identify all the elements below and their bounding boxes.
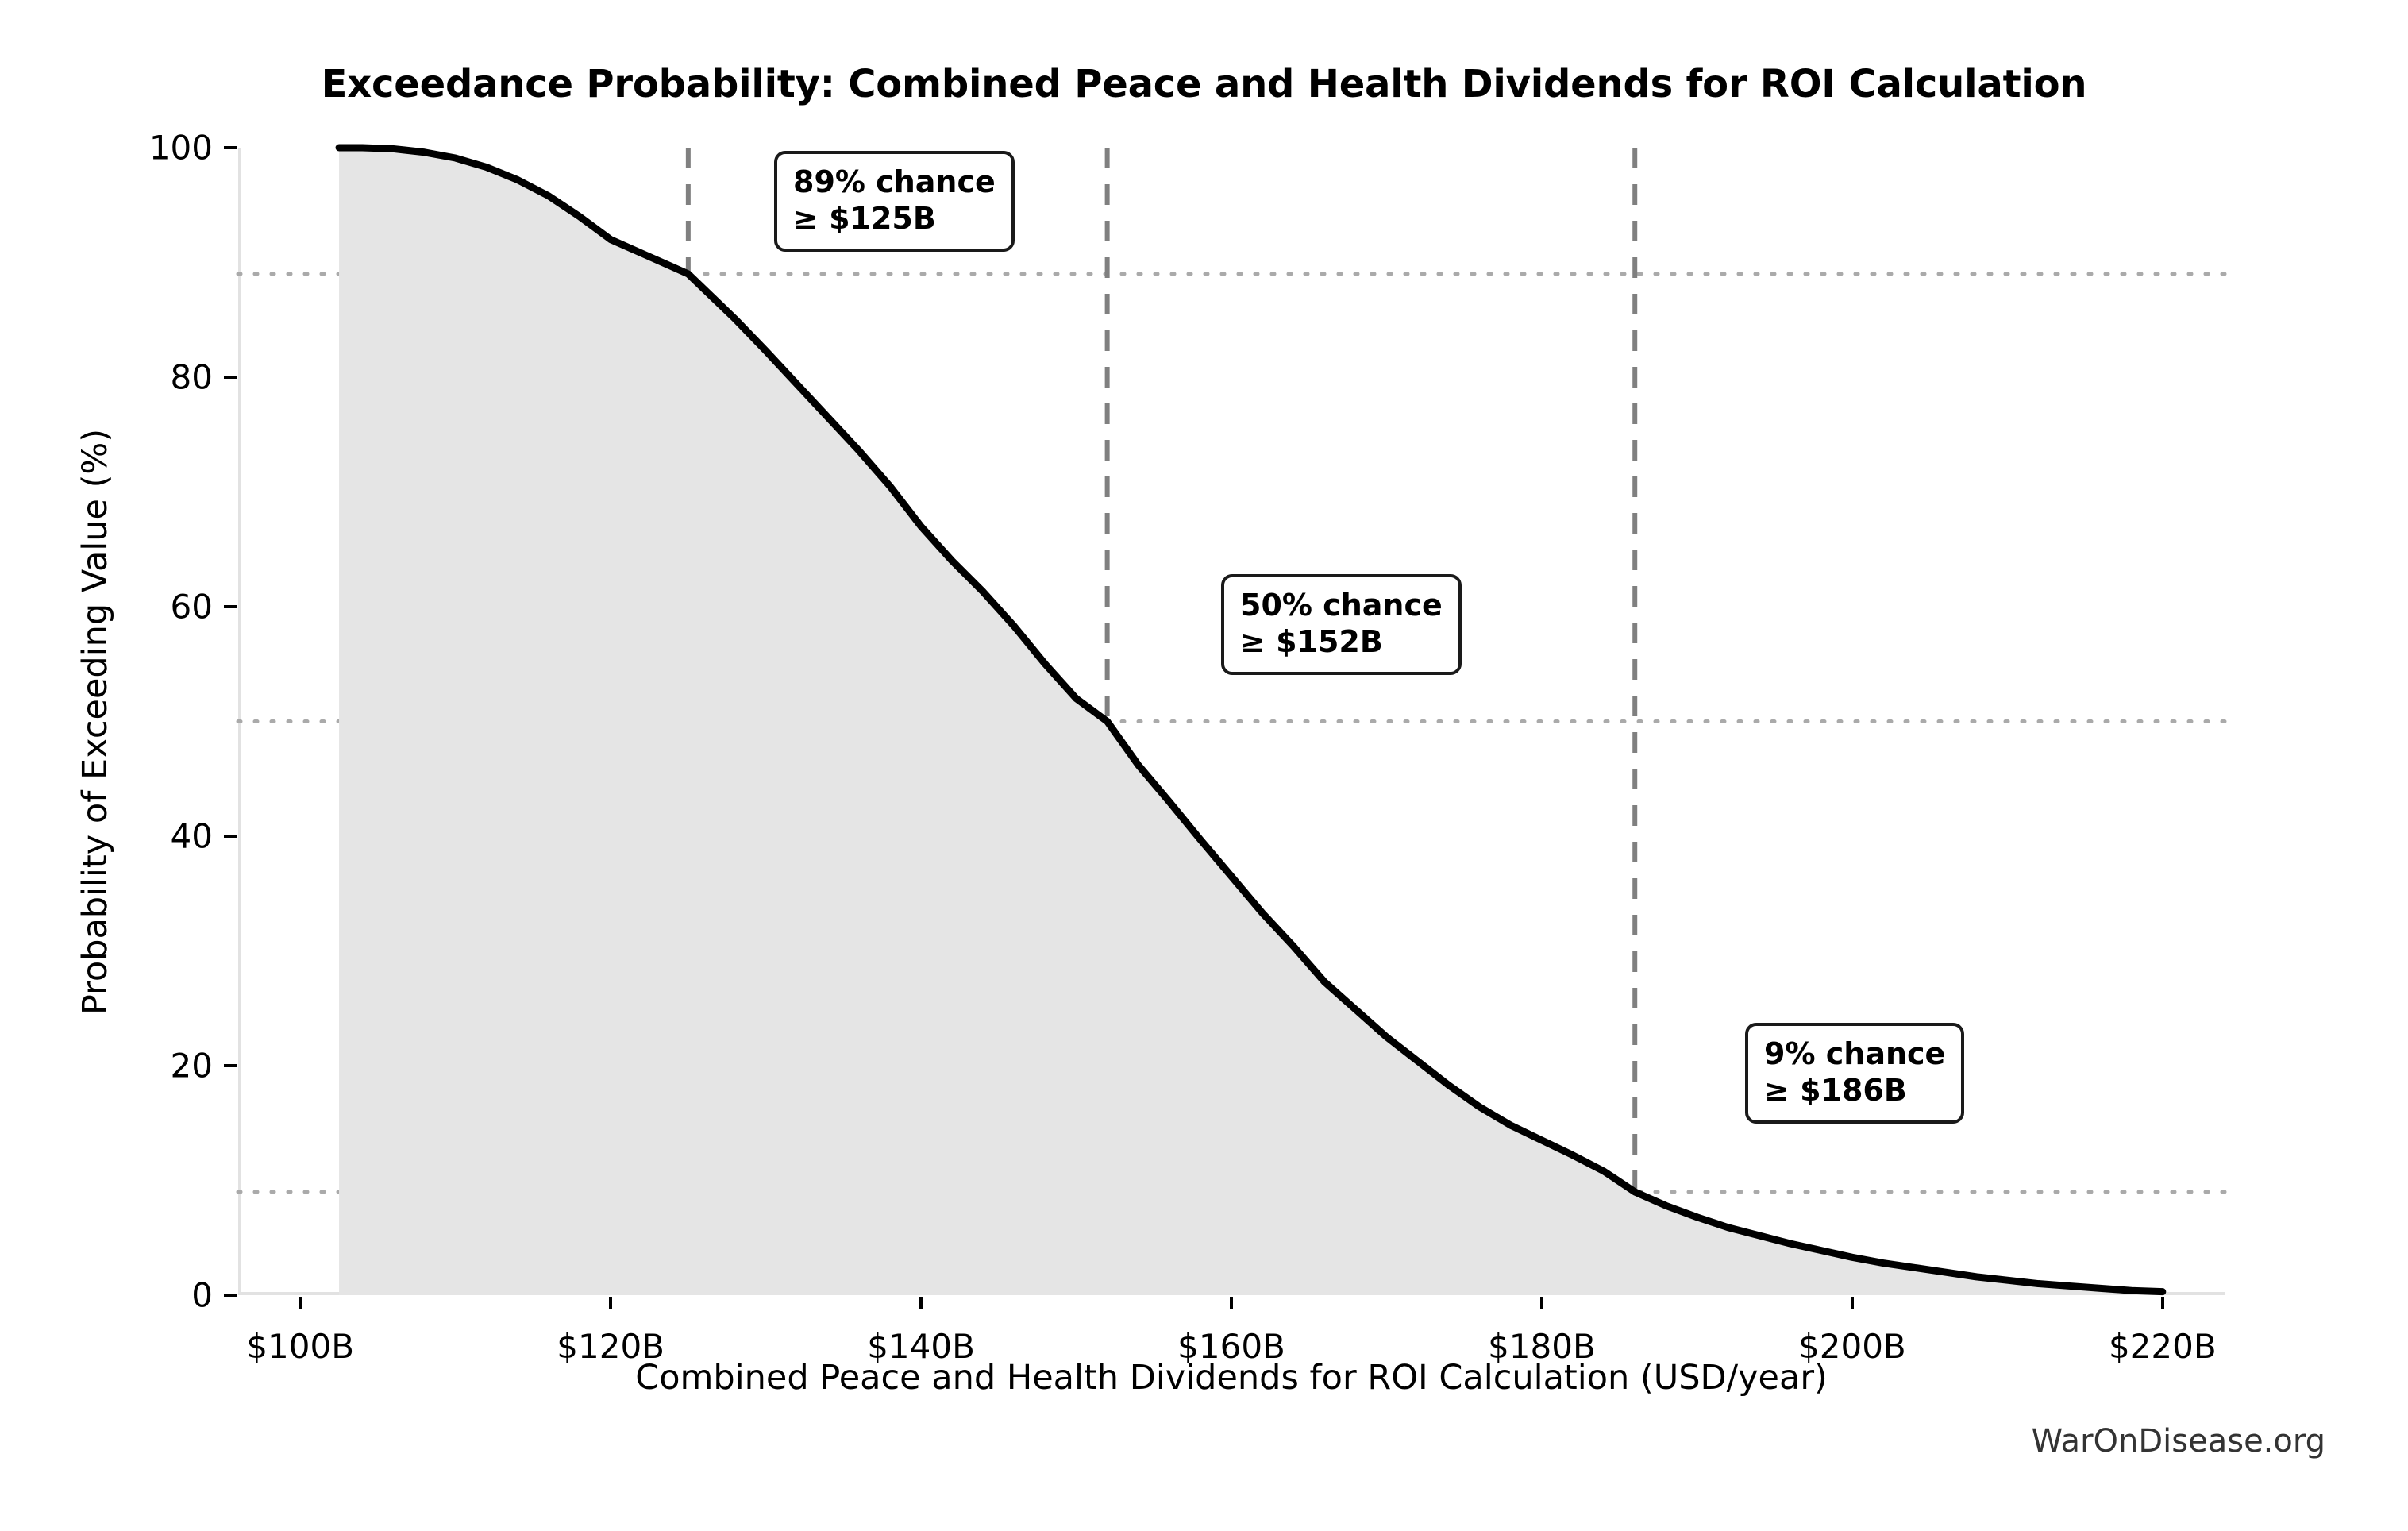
annotation-50-line2: ≥ $152B (1240, 623, 1443, 660)
x-tick-mark-100B (299, 1297, 302, 1309)
annotation-89-line1: 89% chance (793, 164, 996, 200)
annotation-50-line1: 50% chance (1240, 587, 1443, 623)
y-tick-label-100: 100 (149, 129, 213, 168)
y-axis-title-text: Probability of Exceeding Value (%) (75, 428, 115, 1014)
y-tick-label-40: 40 (171, 817, 213, 856)
y-tick-label-80: 80 (171, 358, 213, 397)
y-tick-mark-40 (224, 835, 237, 838)
y-tick-label-20: 20 (171, 1047, 213, 1086)
x-axis-title: Combined Peace and Health Dividends for … (238, 1358, 2225, 1398)
y-tick-label-0: 0 (191, 1276, 213, 1315)
y-tick-mark-80 (224, 376, 237, 379)
chart-title: Exceedance Probability: Combined Peace a… (0, 62, 2408, 106)
annotation-9-line2: ≥ $186B (1764, 1072, 1945, 1109)
chart-figure: Exceedance Probability: Combined Peace a… (0, 0, 2408, 1531)
y-tick-mark-0 (224, 1294, 237, 1297)
footer-credit: WarOnDisease.org (2032, 1423, 2325, 1460)
x-tick-mark-140B (919, 1297, 923, 1309)
x-tick-mark-120B (609, 1297, 612, 1309)
annotation-89-line2: ≥ $125B (793, 200, 996, 237)
y-axis-title: Probability of Exceeding Value (%) (73, 148, 118, 1295)
x-tick-mark-200B (1851, 1297, 1854, 1309)
y-tick-mark-100 (224, 146, 237, 149)
y-tick-mark-60 (224, 605, 237, 608)
x-tick-mark-160B (1230, 1297, 1233, 1309)
annotation-9-line1: 9% chance (1764, 1035, 1945, 1072)
y-tick-label-60: 60 (171, 588, 213, 627)
annotation-50-percent: 50% chance ≥ $152B (1221, 574, 1462, 675)
x-tick-mark-220B (2161, 1297, 2164, 1309)
x-tick-mark-180B (1540, 1297, 1543, 1309)
y-tick-mark-20 (224, 1064, 237, 1067)
annotation-89-percent: 89% chance ≥ $125B (774, 151, 1015, 252)
annotation-9-percent: 9% chance ≥ $186B (1745, 1023, 1964, 1124)
